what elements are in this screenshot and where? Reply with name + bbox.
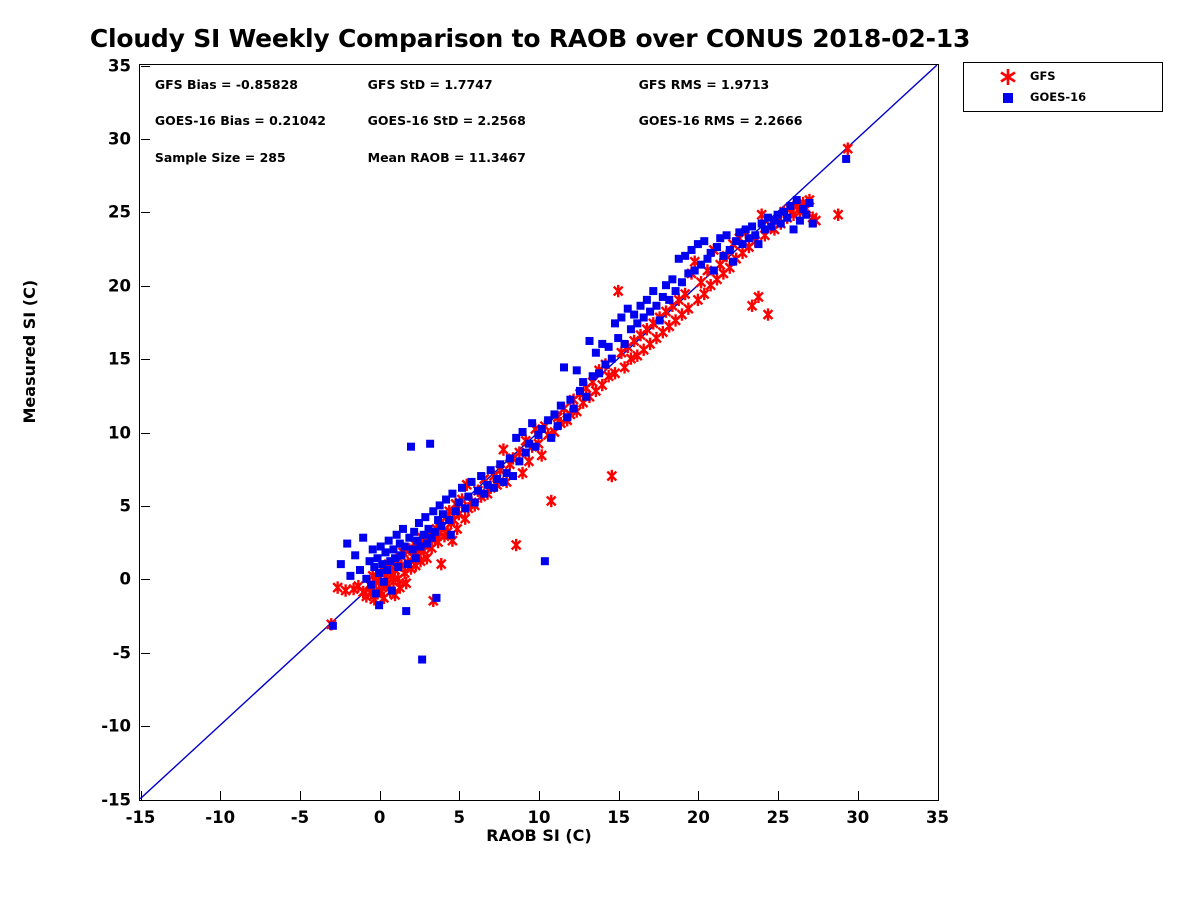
y-tick-label: 35 — [61, 56, 131, 75]
stat-annotation: GOES-16 StD = 2.2568 — [368, 113, 526, 128]
legend-label-goes16: GOES-16 — [1030, 90, 1086, 104]
chart-canvas: Cloudy SI Weekly Comparison to RAOB over… — [0, 0, 1200, 900]
stat-annotation: GOES-16 Bias = 0.21042 — [155, 113, 326, 128]
y-axis-label: Measured SI (C) — [20, 279, 39, 423]
x-tick-label: 35 — [926, 808, 949, 827]
x-tick — [858, 791, 859, 800]
x-tick-label: 0 — [374, 808, 385, 827]
x-tick — [300, 791, 301, 800]
y-tick — [141, 433, 150, 434]
x-tick — [220, 791, 221, 800]
legend-label-gfs: GFS — [1030, 69, 1056, 83]
x-tick-label: 10 — [528, 808, 551, 827]
plot-area — [139, 64, 939, 801]
y-tick-label: -15 — [61, 790, 131, 809]
x-tick-label: 5 — [454, 808, 465, 827]
x-tick-label: -5 — [291, 808, 309, 827]
y-tick — [141, 653, 150, 654]
x-tick-label: -15 — [126, 808, 156, 827]
stat-annotation: GFS RMS = 1.9713 — [639, 77, 770, 92]
x-tick — [459, 791, 460, 800]
y-tick-label: 15 — [61, 350, 131, 369]
legend-item-goes16: GOES-16 — [964, 87, 1162, 109]
y-tick-label: 25 — [61, 203, 131, 222]
y-tick-label: 20 — [61, 276, 131, 295]
y-tick-label: 30 — [61, 129, 131, 148]
x-tick — [938, 791, 939, 800]
scatter-svg — [140, 65, 937, 799]
y-tick — [141, 506, 150, 507]
y-tick — [141, 359, 150, 360]
asterisk-icon — [998, 66, 1018, 88]
y-tick-label: 5 — [61, 496, 131, 515]
x-tick — [380, 791, 381, 800]
y-tick-label: -5 — [61, 643, 131, 662]
x-tick-label: 20 — [687, 808, 710, 827]
x-tick — [539, 791, 540, 800]
x-tick — [619, 791, 620, 800]
x-tick-label: 25 — [767, 808, 790, 827]
y-tick-label: 0 — [61, 570, 131, 589]
y-tick — [141, 286, 150, 287]
x-tick-label: 30 — [846, 808, 869, 827]
y-tick — [141, 66, 150, 67]
legend-item-gfs: GFS — [964, 66, 1162, 88]
stat-annotation: GFS StD = 1.7747 — [368, 77, 493, 92]
x-tick — [698, 791, 699, 800]
y-tick — [141, 139, 150, 140]
square-icon — [998, 87, 1018, 109]
y-tick — [141, 726, 150, 727]
x-tick — [141, 791, 142, 800]
legend-box: GFS GOES-16 — [963, 62, 1163, 112]
y-tick — [141, 800, 150, 801]
y-tick — [141, 212, 150, 213]
plot-inner — [140, 65, 938, 800]
x-tick-label: -10 — [205, 808, 235, 827]
stat-annotation: GOES-16 RMS = 2.2666 — [639, 113, 803, 128]
chart-title: Cloudy SI Weekly Comparison to RAOB over… — [0, 24, 1060, 53]
stat-annotation: Sample Size = 285 — [155, 150, 286, 165]
x-tick — [778, 791, 779, 800]
y-tick — [141, 579, 150, 580]
stat-annotation: Mean RAOB = 11.3467 — [368, 150, 526, 165]
stat-annotation: GFS Bias = -0.85828 — [155, 77, 298, 92]
x-axis-label: RAOB SI (C) — [139, 826, 939, 845]
y-tick-label: 10 — [61, 423, 131, 442]
x-tick-label: 15 — [607, 808, 630, 827]
y-tick-label: -10 — [61, 717, 131, 736]
